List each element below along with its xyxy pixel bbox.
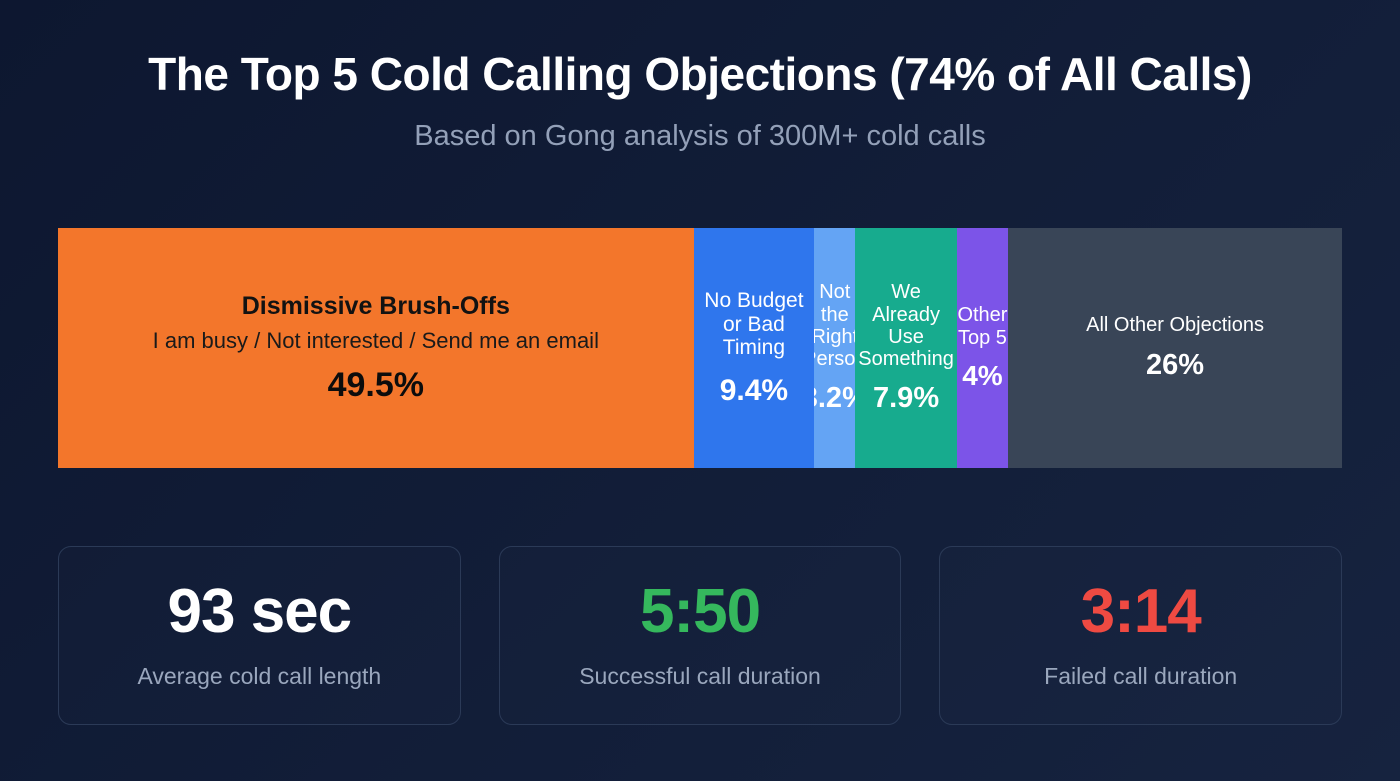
bar-segment-value: 26% <box>1146 350 1204 382</box>
stat-value: 93 sec <box>168 581 352 643</box>
bar-segment-label: Dismissive Brush-Offs <box>242 292 510 320</box>
header: The Top 5 Cold Calling Objections (74% o… <box>0 0 1400 154</box>
bar-segment-label: All Other Objections <box>1086 314 1264 336</box>
infographic-root: The Top 5 Cold Calling Objections (74% o… <box>0 0 1400 781</box>
bar-segment-label: Other Top 5 <box>957 304 1007 349</box>
page-subtitle: Based on Gong analysis of 300M+ cold cal… <box>0 119 1400 154</box>
bar-segment-value: 49.5% <box>328 367 424 404</box>
stat-label: Successful call duration <box>579 663 821 691</box>
bar-segment-no-budget-or-bad-timing[interactable]: No Budget or Bad Timing 9.4% <box>694 228 815 468</box>
bar-segment-value: 3.2% <box>814 383 855 415</box>
bar-segment-we-already-use-something[interactable]: We Already Use Something 7.9% <box>855 228 956 468</box>
stacked-bar-chart: Dismissive Brush-Offs I am busy / Not in… <box>58 228 1342 468</box>
stat-card-failed-call-duration[interactable]: 3:14 Failed call duration <box>939 546 1342 725</box>
stat-label: Average cold call length <box>137 663 381 691</box>
stat-card-successful-call-duration[interactable]: 5:50 Successful call duration <box>499 546 902 725</box>
stat-value: 3:14 <box>1081 581 1201 643</box>
stats-row: 93 sec Average cold call length 5:50 Suc… <box>58 546 1342 725</box>
stat-card-average-cold-call-length[interactable]: 93 sec Average cold call length <box>58 546 461 725</box>
bar-segment-sublabel: I am busy / Not interested / Send me an … <box>153 328 599 354</box>
bar-segment-label: We Already Use Something <box>858 281 954 371</box>
bar-segment-value: 7.9% <box>873 383 939 415</box>
bar-segment-not-the-right-person[interactable]: Not the Right Person 3.2% <box>814 228 855 468</box>
bar-segment-dismissive-brush-offs[interactable]: Dismissive Brush-Offs I am busy / Not in… <box>58 228 694 468</box>
stat-value: 5:50 <box>640 581 760 643</box>
bar-segment-label: Not the Right Person <box>814 281 855 371</box>
bar-segment-value: 9.4% <box>720 374 788 407</box>
stat-label: Failed call duration <box>1044 663 1237 691</box>
bar-segment-other-top-5[interactable]: Other Top 5 4% <box>957 228 1008 468</box>
bar-segment-all-other-objections[interactable]: All Other Objections 26% <box>1008 228 1342 468</box>
bar-segment-label: No Budget or Bad Timing <box>698 289 811 360</box>
bar-segment-value: 4% <box>962 361 1002 392</box>
page-title: The Top 5 Cold Calling Objections (74% o… <box>0 48 1400 101</box>
